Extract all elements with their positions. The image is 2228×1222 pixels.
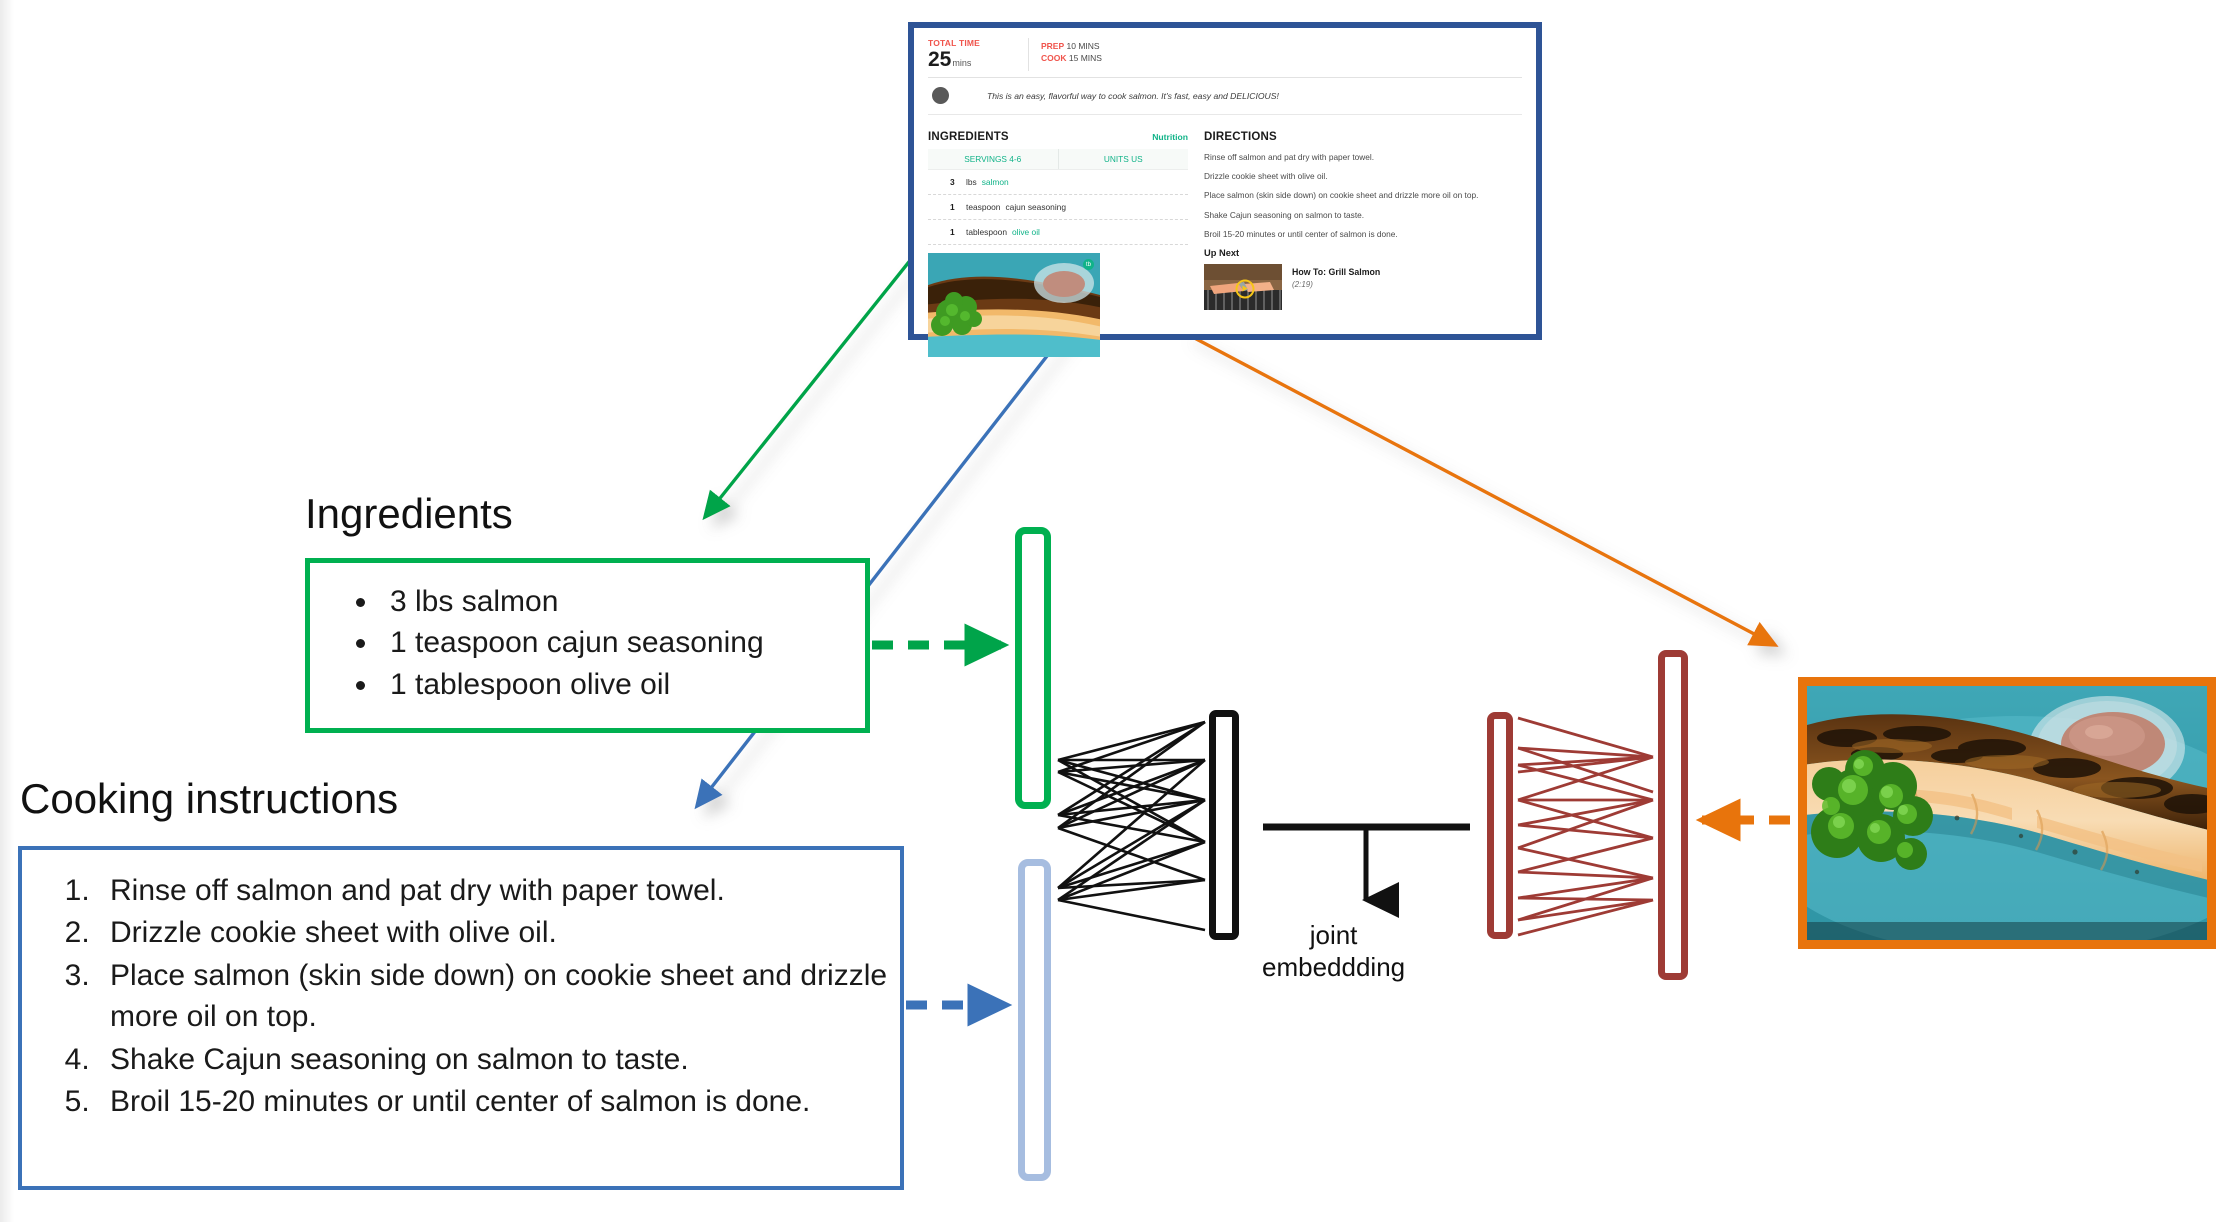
recipe-card[interactable]: TOTAL TIME 25mins PREP 10 MINS COOK 15 M…	[908, 22, 1542, 340]
photo-badge: tb	[1083, 259, 1094, 270]
direction-line: Rinse off salmon and pat dry with paper …	[1204, 152, 1522, 163]
network-edges-right	[1518, 718, 1653, 935]
ingredient-qty: 1	[950, 227, 966, 237]
image-encoder-hidden-bar	[1487, 712, 1513, 939]
list-item: Drizzle cookie sheet with olive oil.	[98, 912, 900, 953]
ingredient-item[interactable]: salmon	[982, 177, 1009, 187]
tab-servings[interactable]: SERVINGS 4-6	[928, 149, 1058, 169]
directions-heading: DIRECTIONS	[1204, 131, 1522, 143]
video-thumbnail[interactable]	[1204, 264, 1282, 310]
ingredient-item: cajun seasoning	[1005, 202, 1066, 212]
direction-line: Drizzle cookie sheet with olive oil.	[1204, 171, 1522, 182]
total-time-unit: mins	[952, 58, 971, 68]
joint-embedding-connector	[1263, 827, 1470, 900]
ingredient-row: 1 teaspoon cajun seasoning	[928, 195, 1188, 220]
joint-embedding-bar	[1209, 710, 1239, 940]
list-item: 1 teaspoon cajun seasoning	[380, 622, 865, 663]
prep-cook-block: PREP 10 MINS COOK 15 MINS	[1029, 38, 1102, 65]
joint-embedding-label: joint embeddding	[1262, 920, 1405, 983]
salmon-image	[1798, 677, 2216, 949]
ingredient-row: 1 tablespoon olive oil	[928, 220, 1188, 245]
ingredient-qty: 1	[950, 202, 966, 212]
play-icon[interactable]	[1235, 279, 1254, 298]
recipe-time-bar: TOTAL TIME 25mins PREP 10 MINS COOK 15 M…	[928, 38, 1522, 78]
total-time-block: TOTAL TIME 25mins	[928, 38, 1029, 71]
direction-line: Broil 15-20 minutes or until center of s…	[1204, 229, 1522, 240]
list-item: Broil 15-20 minutes or until center of s…	[98, 1081, 900, 1122]
avatar	[932, 87, 949, 104]
instructions-panel-title: Cooking instructions	[20, 775, 398, 823]
total-time-label: TOTAL TIME	[928, 38, 1020, 48]
ingredients-panel-title: Ingredients	[305, 490, 513, 538]
ingredient-unit: lbs	[966, 177, 977, 187]
recipe-photo: tb	[928, 253, 1100, 357]
ingredients-heading: INGREDIENTS	[928, 131, 1009, 143]
prep-label: PREP	[1041, 41, 1064, 51]
salmon-photo-large	[1807, 686, 2207, 940]
tab-units[interactable]: UNITS US	[1058, 149, 1189, 169]
recipe-description-row: This is an easy, flavorful way to cook s…	[928, 87, 1522, 115]
ingredient-row: 3 lbs salmon	[928, 170, 1188, 195]
recipe-description: This is an easy, flavorful way to cook s…	[987, 91, 1279, 101]
list-item: Shake Cajun seasoning on salmon to taste…	[98, 1039, 900, 1080]
direction-line: Shake Cajun seasoning on salmon to taste…	[1204, 210, 1522, 221]
instructions-list: Rinse off salmon and pat dry with paper …	[22, 850, 900, 1122]
slide-left-edge	[0, 0, 14, 1222]
joint-embedding-label-line2: embeddding	[1262, 952, 1405, 984]
ingredients-panel-box: 3 lbs salmon 1 teaspoon cajun seasoning …	[305, 558, 870, 733]
list-item: 3 lbs salmon	[380, 581, 865, 622]
total-time-value: 25mins	[928, 49, 1020, 71]
cook-label: COOK	[1041, 53, 1067, 63]
direction-line: Place salmon (skin side down) on cookie …	[1204, 190, 1522, 201]
cook-value: 15 MINS	[1069, 53, 1102, 63]
list-item: 1 tablespoon olive oil	[380, 664, 865, 705]
servings-units-tabs[interactable]: SERVINGS 4-6 UNITS US	[928, 149, 1188, 170]
network-edges-left	[1058, 722, 1205, 930]
up-next-heading: Up Next	[1204, 248, 1522, 258]
image-encoder-input-bar	[1658, 650, 1688, 980]
ingredient-item[interactable]: olive oil	[1012, 227, 1040, 237]
nutrition-link[interactable]: Nutrition	[1152, 132, 1188, 142]
list-item: Rinse off salmon and pat dry with paper …	[98, 870, 900, 911]
list-item: Place salmon (skin side down) on cookie …	[98, 955, 900, 1038]
instructions-panel-box: Rinse off salmon and pat dry with paper …	[18, 846, 904, 1190]
prep-line: PREP 10 MINS	[1041, 40, 1102, 52]
prep-value: 10 MINS	[1067, 41, 1100, 51]
salmon-photo-small	[928, 253, 1100, 357]
up-next-video[interactable]: How To: Grill Salmon (2:19)	[1204, 264, 1522, 310]
ingredient-qty: 3	[950, 177, 966, 187]
ingredient-unit: tablespoon	[966, 227, 1007, 237]
up-next-duration: (2:19)	[1292, 280, 1380, 289]
up-next-title[interactable]: How To: Grill Salmon	[1292, 267, 1380, 277]
ingredient-unit: teaspoon	[966, 202, 1000, 212]
joint-embedding-label-line1: joint	[1262, 920, 1405, 952]
cook-line: COOK 15 MINS	[1041, 52, 1102, 64]
slide-canvas: TOTAL TIME 25mins PREP 10 MINS COOK 15 M…	[0, 0, 2228, 1222]
instruction-encoder-bar	[1018, 859, 1051, 1181]
ingredients-list: 3 lbs salmon 1 teaspoon cajun seasoning …	[310, 563, 865, 705]
ingredient-encoder-bar	[1015, 527, 1051, 809]
